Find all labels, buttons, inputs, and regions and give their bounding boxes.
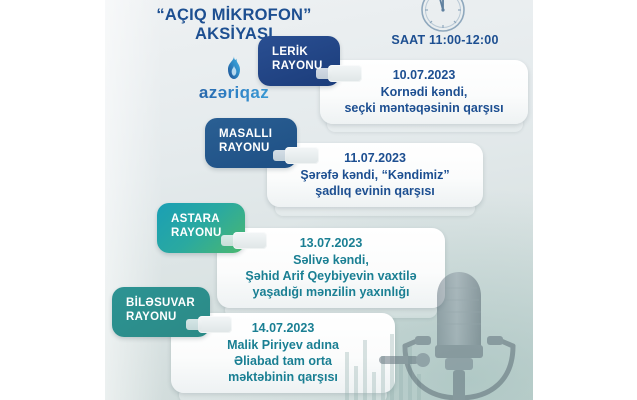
region-tag-astara: ASTARA RAYONU (157, 203, 245, 253)
event-place-line-2: seçki məntəqəsinin qarşısı (330, 100, 518, 116)
screenshot-canvas: “AÇIQ MİKROFON” AKSİYASI azəriqaz (0, 0, 637, 400)
gas-flame-icon (224, 56, 244, 80)
campaign-poster: “AÇIQ MİKROFON” AKSİYASI azəriqaz (105, 0, 533, 400)
brand-name: azəriqaz (173, 83, 295, 103)
event-place-line-1: Şərəfə kəndi, “Kəndimiz” (277, 167, 473, 183)
microphone-icon (379, 244, 533, 400)
time-label: SAAT 11:00-12:00 (357, 33, 533, 47)
tag-connector (328, 65, 362, 82)
region-tag-masalli: MASALLI RAYONU (205, 118, 297, 168)
tag-connector (233, 232, 267, 249)
region-name: BİLƏSUVAR (126, 297, 195, 309)
event-place: Kornədi kəndi, seçki məntəqəsinin qarşıs… (330, 84, 518, 116)
event-place-line-2: şadlıq evinin qarşısı (277, 183, 473, 199)
region-tag-lerik: LERİK RAYONU (258, 36, 340, 86)
region-tag-bilesuvar: BİLƏSUVAR RAYONU (112, 287, 210, 337)
event-place: Şərəfə kəndi, “Kəndimiz” şadlıq evinin q… (277, 167, 473, 199)
region-name: MASALLI (219, 128, 272, 140)
region-name: ASTARA (171, 213, 220, 225)
clock-icon (417, 0, 469, 36)
tag-connector (198, 316, 232, 333)
title-line-1: “AÇIQ MİKROFON” (156, 6, 311, 24)
tag-connector (285, 147, 319, 164)
region-name: LERİK (272, 46, 308, 58)
event-place-line-1: Kornədi kəndi, (330, 84, 518, 100)
